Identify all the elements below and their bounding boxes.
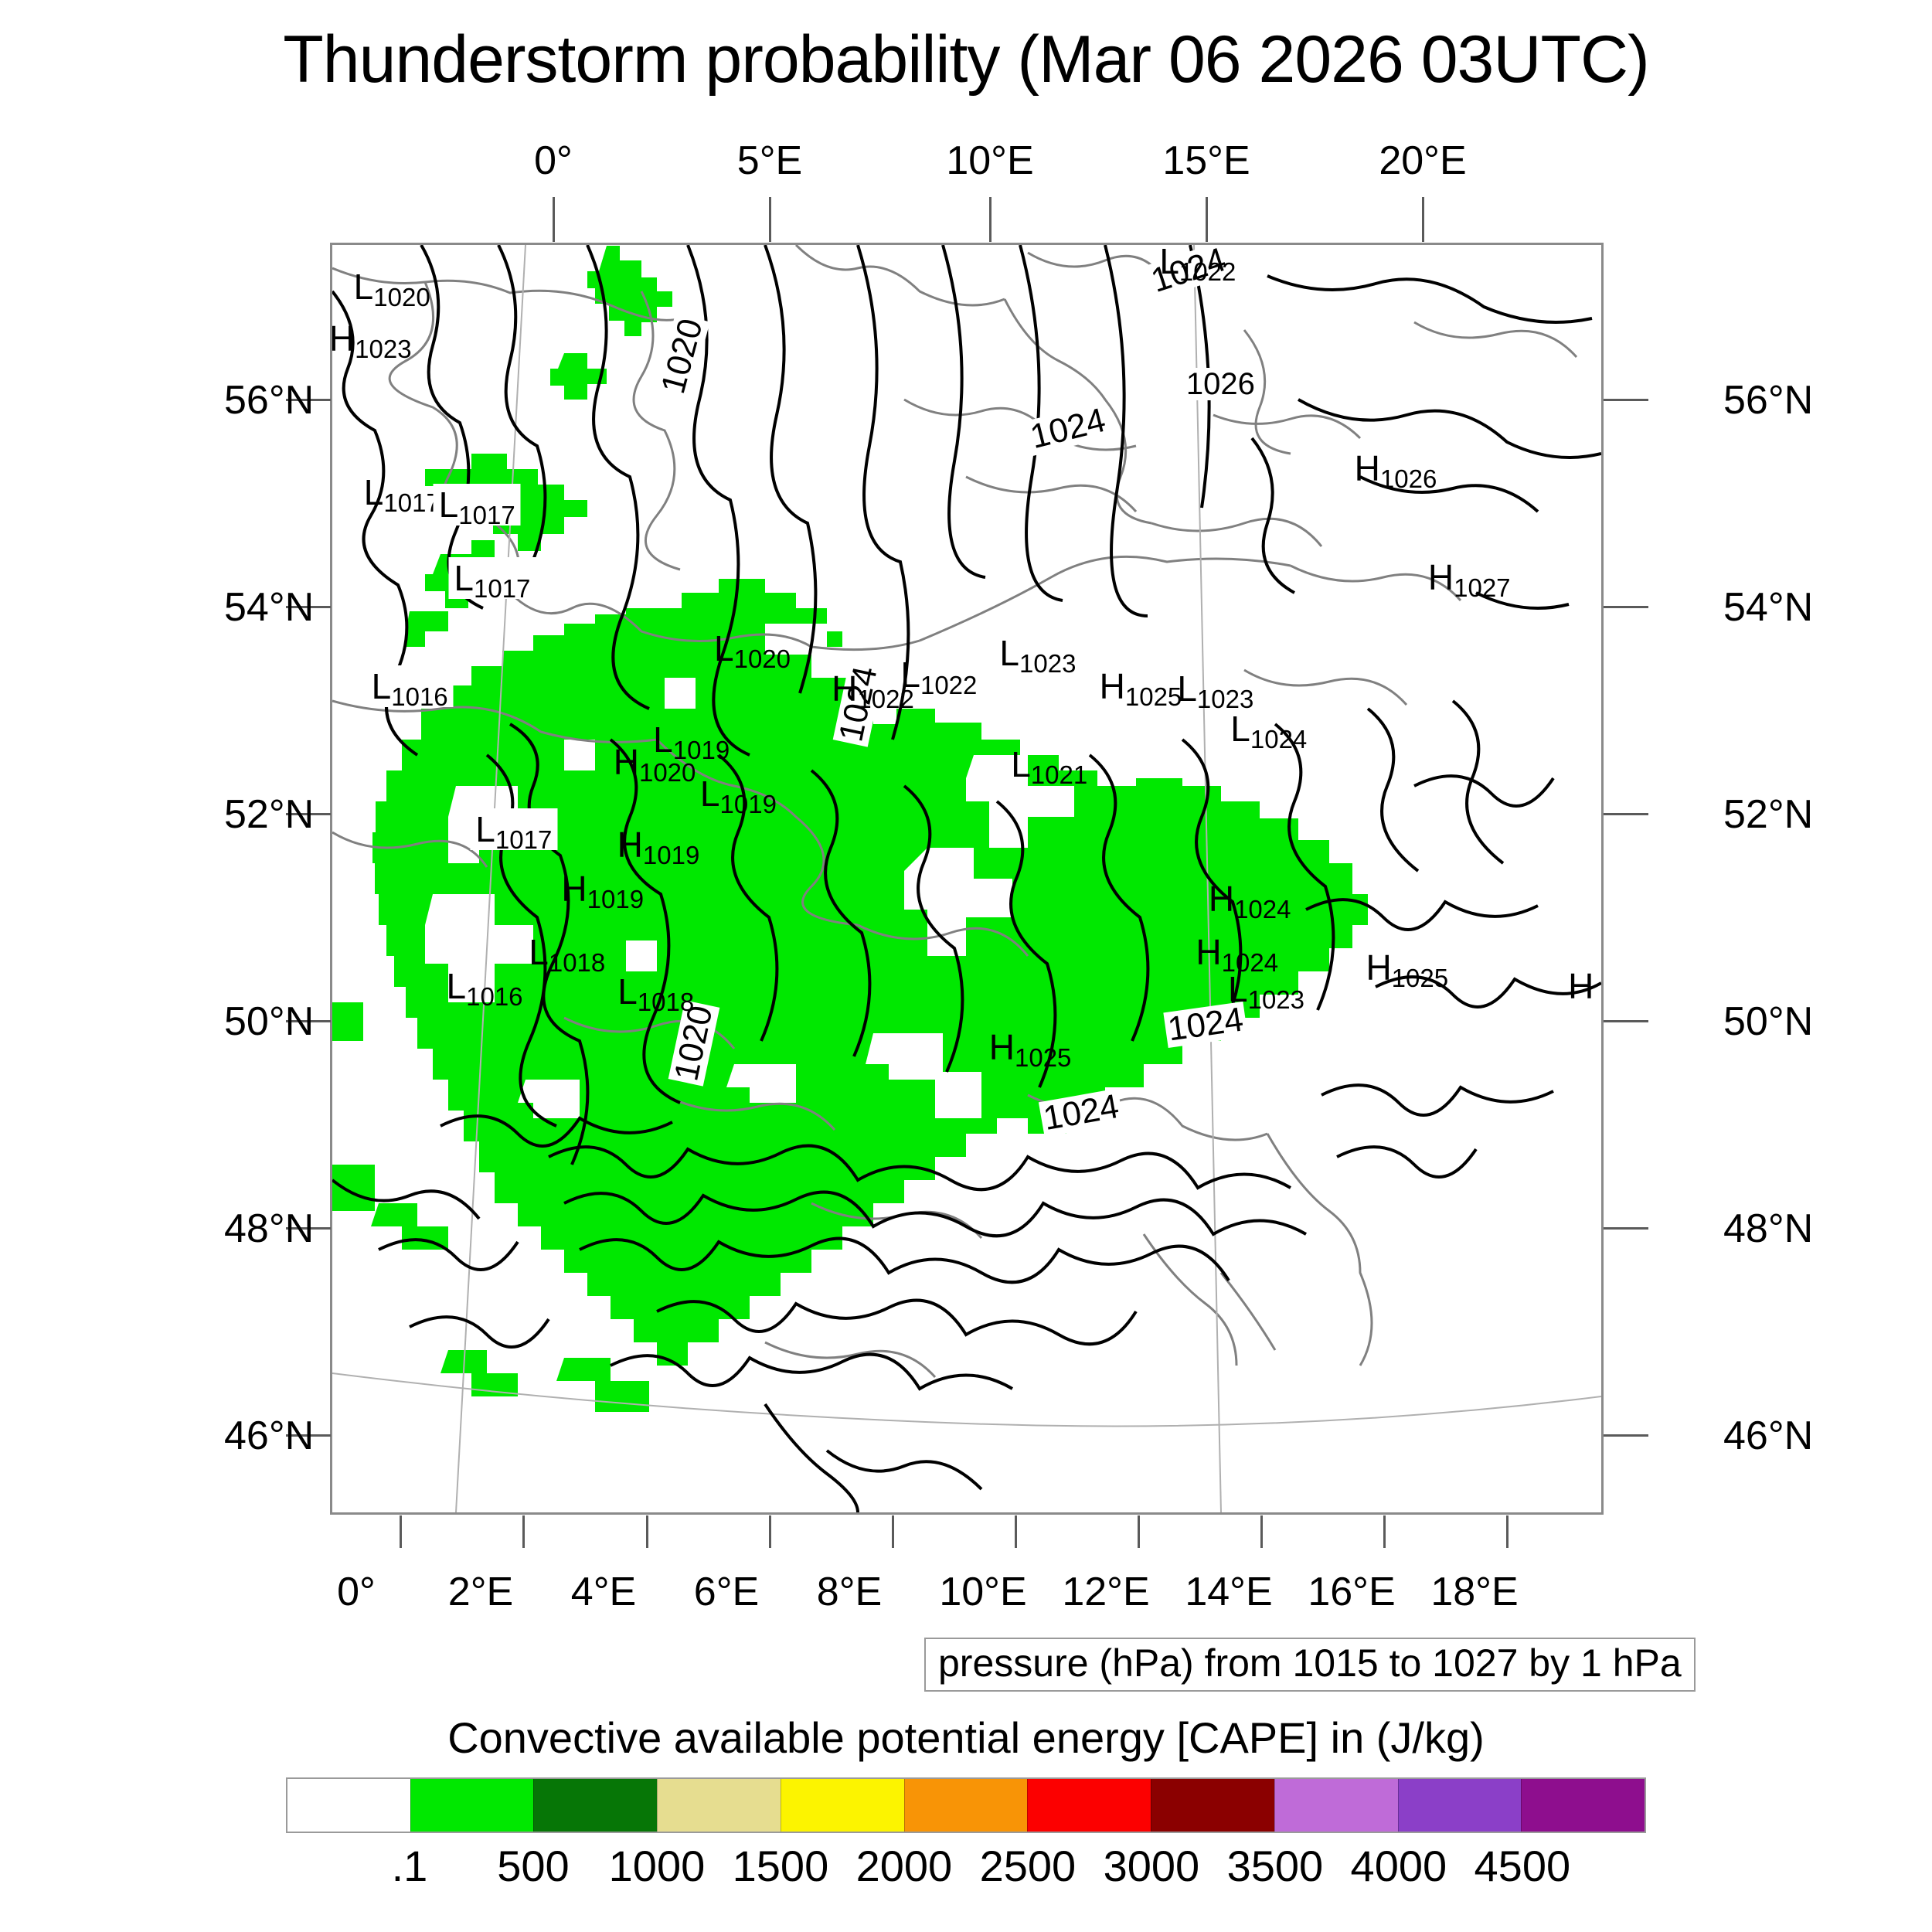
contour-label: 1026 <box>1184 368 1257 400</box>
tick-bottom <box>1138 1515 1140 1548</box>
lon-label-bottom: 0° <box>337 1569 376 1615</box>
colorbar-swatch-7[interactable] <box>1151 1779 1274 1832</box>
tick-right <box>1604 1227 1648 1230</box>
lon-label-bottom: 10°E <box>939 1569 1026 1615</box>
pressure-center-type: L <box>900 655 920 695</box>
cape-colorbar[interactable] <box>286 1777 1646 1833</box>
lon-label-bottom: 18°E <box>1430 1569 1518 1615</box>
pressure-center-type: L <box>529 932 549 972</box>
pressure-center-type: H <box>561 869 587 909</box>
pressure-center-value: 1017 <box>474 574 530 603</box>
pressure-center-marker: L1020 <box>354 269 430 304</box>
pressure-center-type: L <box>999 633 1019 673</box>
lat-label-left: 48°N <box>224 1206 314 1252</box>
lon-label-bottom: 6°E <box>694 1569 759 1615</box>
lon-label-bottom: 2°E <box>448 1569 513 1615</box>
lat-label-right: 50°N <box>1723 998 1813 1045</box>
pressure-center-marker: H1025 <box>1366 950 1448 985</box>
pressure-center-type: L <box>1159 243 1179 281</box>
pressure-center-type: L <box>1011 744 1031 784</box>
pressure-center-value: 1023 <box>355 335 411 363</box>
pressure-center-type: H <box>1366 947 1391 988</box>
lat-label-left: 52°N <box>224 791 314 838</box>
pressure-center-marker: L1018 <box>617 974 694 1009</box>
lat-label-right: 56°N <box>1723 377 1813 423</box>
colorbar-swatch-4[interactable] <box>781 1779 904 1832</box>
pressure-center-type: H <box>614 742 639 782</box>
pressure-center-value: 1017 <box>383 488 440 517</box>
pressure-center-type: L <box>447 966 467 1006</box>
colorbar-title: Convective available potential energy [C… <box>0 1713 1932 1763</box>
lon-label-top: 0° <box>534 138 573 184</box>
tick-bottom <box>1383 1515 1386 1548</box>
lat-label-right: 48°N <box>1723 1206 1813 1252</box>
tick-top <box>769 197 771 242</box>
pressure-center-value: 1017 <box>495 825 552 854</box>
pressure-center-marker: L1021 <box>1011 747 1087 782</box>
pressure-center-type: H <box>989 1027 1015 1067</box>
pressure-center-type: L <box>439 485 459 525</box>
pressure-center-marker: L1023 <box>1228 971 1304 1007</box>
pressure-center-type: L <box>700 774 720 814</box>
lon-label-bottom: 16°E <box>1308 1569 1395 1615</box>
pressure-center-value: 1025 <box>1125 682 1182 711</box>
pressure-center-type: H <box>1355 448 1380 488</box>
pressure-center-type: H <box>1209 879 1234 919</box>
colorbar-tick: 1000 <box>609 1841 706 1891</box>
pressure-center-marker: L1023 <box>1177 671 1253 706</box>
tick-bottom <box>1260 1515 1263 1548</box>
lon-label-top: 20°E <box>1379 138 1466 184</box>
pressure-center-value: 1023 <box>1019 649 1076 678</box>
colorbar-tick: 3000 <box>1104 1841 1200 1891</box>
tick-right <box>1604 606 1648 608</box>
pressure-center-marker: H1026 <box>1355 451 1437 486</box>
tick-bottom <box>1015 1515 1017 1548</box>
pressure-center-type: H <box>617 825 643 865</box>
pressure-center-marker: L1017 <box>364 474 440 510</box>
tick-right <box>1604 1020 1648 1022</box>
pressure-center-value: 1025 <box>1392 964 1448 992</box>
tick-bottom <box>1506 1515 1509 1548</box>
colorbar-tick: 1500 <box>733 1841 829 1891</box>
lon-label-top: 15°E <box>1162 138 1250 184</box>
lon-label-top: 10°E <box>946 138 1033 184</box>
tick-bottom <box>522 1515 525 1548</box>
pressure-center-type: L <box>354 267 374 307</box>
pressure-center-value: 1016 <box>391 682 447 711</box>
lat-label-left: 54°N <box>224 584 314 631</box>
colorbar-swatch-5[interactable] <box>904 1779 1028 1832</box>
colorbar-swatch-3[interactable] <box>657 1779 781 1832</box>
pressure-center-value: 1018 <box>549 948 605 977</box>
tick-bottom <box>892 1515 894 1548</box>
colorbar-tick: 4000 <box>1351 1841 1447 1891</box>
pressure-center-marker: H1024 <box>1209 881 1291 917</box>
tick-bottom <box>769 1515 771 1548</box>
tick-bottom <box>646 1515 648 1548</box>
pressure-center-value: 1017 <box>458 501 515 529</box>
pressure-center-type: L <box>1228 969 1248 1009</box>
pressure-center-marker: L1017 <box>470 808 557 850</box>
pressure-center-type: L <box>372 666 392 706</box>
pressure-contour-legend: pressure (hPa) from 1015 to 1027 by 1 hP… <box>924 1638 1696 1692</box>
pressure-center-marker: L1022 <box>900 657 977 692</box>
pressure-center-marker: L1018 <box>529 934 605 970</box>
pressure-center-marker: H1023 <box>330 321 412 356</box>
lat-label-left: 56°N <box>224 377 314 423</box>
colorbar-swatch-8[interactable] <box>1274 1779 1398 1832</box>
pressure-center-marker: H1027 <box>1428 560 1511 595</box>
colorbar-swatch-6[interactable] <box>1027 1779 1151 1832</box>
pressure-center-value: 1022 <box>1179 257 1236 286</box>
tick-top <box>553 197 555 242</box>
pressure-center-type: H <box>1196 932 1221 972</box>
pressure-center-marker: H1025 <box>989 1029 1072 1065</box>
pressure-center-marker: L1023 <box>999 635 1076 671</box>
tick-top <box>1206 197 1208 242</box>
pressure-center-value: 1019 <box>587 885 644 913</box>
pressure-center-marker: L1024 <box>1230 711 1307 747</box>
pressure-center-value: 1025 <box>1015 1043 1071 1072</box>
colorbar-tick: 2500 <box>980 1841 1077 1891</box>
colorbar-swatch-0[interactable] <box>287 1779 410 1832</box>
lon-label-bottom: 4°E <box>571 1569 636 1615</box>
map-canvas <box>332 245 1601 1512</box>
page-title: Thunderstorm probability (Mar 06 2026 03… <box>0 22 1932 98</box>
lat-label-left: 50°N <box>224 998 314 1045</box>
pressure-center-type: L <box>617 971 638 1012</box>
lat-label-right: 46°N <box>1723 1413 1813 1459</box>
pressure-center-value: 1020 <box>639 758 696 787</box>
colorbar-tick: 2000 <box>856 1841 953 1891</box>
colorbar-tick: 3500 <box>1227 1841 1324 1891</box>
pressure-center-marker: H <box>1568 968 1594 1004</box>
pressure-center-value: 1024 <box>1250 725 1307 753</box>
colorbar-swatch-2[interactable] <box>533 1779 657 1832</box>
tick-right <box>1604 1434 1648 1437</box>
pressure-center-marker: L1022 <box>1159 243 1236 279</box>
lat-label-right: 52°N <box>1723 791 1813 838</box>
colorbar-swatch-10[interactable] <box>1521 1779 1645 1832</box>
pressure-center-marker: H1019 <box>617 827 700 862</box>
pressure-center-marker: H1024 <box>1196 934 1278 970</box>
pressure-center-marker: L1016 <box>447 968 523 1004</box>
pressure-center-value: 1021 <box>1031 760 1087 789</box>
pressure-center-value: 1023 <box>1248 985 1304 1014</box>
pressure-center-value: 1027 <box>1454 573 1510 602</box>
pressure-center-type: H <box>1428 557 1454 597</box>
pressure-center-value: 1019 <box>643 841 699 869</box>
pressure-center-marker: L1019 <box>700 776 777 811</box>
pressure-center-marker: L1017 <box>434 484 521 526</box>
tick-right <box>1604 399 1648 401</box>
pressure-center-value: 1018 <box>638 988 694 1016</box>
lon-label-bottom: 12°E <box>1062 1569 1149 1615</box>
pressure-center-type: H <box>832 668 857 709</box>
pressure-center-value: 1016 <box>466 982 522 1011</box>
pressure-center-value: 1020 <box>373 283 430 311</box>
pressure-center-value: 1019 <box>720 790 777 818</box>
colorbar-swatch-9[interactable] <box>1398 1779 1522 1832</box>
pressure-center-marker: L1020 <box>714 631 791 666</box>
tick-top <box>989 197 992 242</box>
pressure-center-marker: H1019 <box>561 871 644 906</box>
pressure-center-value: 1022 <box>920 671 977 699</box>
pressure-center-type: L <box>364 472 384 512</box>
pressure-center-marker: L1016 <box>366 665 454 707</box>
pressure-center-type: L <box>454 558 474 598</box>
pressure-center-type: L <box>475 809 495 849</box>
lat-label-right: 54°N <box>1723 584 1813 631</box>
pressure-center-type: L <box>1230 709 1250 749</box>
pressure-center-type: L <box>714 628 734 668</box>
pressure-center-value: 1024 <box>1234 895 1291 923</box>
colorbar-swatch-1[interactable] <box>410 1779 534 1832</box>
tick-bottom <box>400 1515 402 1548</box>
tick-top <box>1422 197 1424 242</box>
lon-label-bottom: 8°E <box>817 1569 882 1615</box>
pressure-center-value: 1026 <box>1380 464 1437 493</box>
lat-label-left: 46°N <box>224 1413 314 1459</box>
pressure-center-type: H <box>330 318 355 359</box>
lon-label-top: 5°E <box>737 138 802 184</box>
pressure-center-type: L <box>1177 668 1197 709</box>
lon-label-bottom: 14°E <box>1185 1569 1272 1615</box>
tick-right <box>1604 813 1648 815</box>
colorbar-tick: 500 <box>497 1841 569 1891</box>
colorbar-tick: .1 <box>392 1841 428 1891</box>
colorbar-tick-labels: .1 500 1000 1500 2000 2500 3000 3500 400… <box>286 1841 1646 1895</box>
pressure-center-type: H <box>1568 966 1594 1006</box>
pressure-center-marker: H1025 <box>1100 668 1182 704</box>
pressure-center-type: H <box>1100 666 1125 706</box>
pressure-center-marker: L1017 <box>448 557 536 599</box>
pressure-center-marker: H1020 <box>614 744 696 780</box>
pressure-center-value: 1020 <box>734 645 791 673</box>
colorbar-tick: 4500 <box>1475 1841 1571 1891</box>
map-plot-area[interactable]: 1020 1024 1024 1024 1026 1020 1024 1024 … <box>330 243 1604 1515</box>
